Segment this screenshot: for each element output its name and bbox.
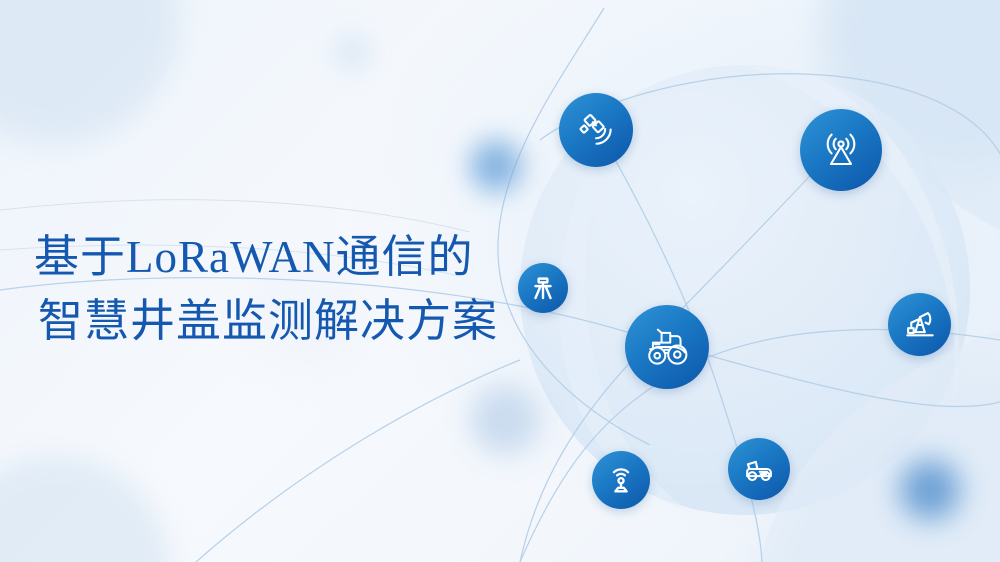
title-line-2: 智慧井盖监测解决方案	[34, 290, 574, 354]
orbit-line	[196, 360, 520, 562]
mower-vehicle-icon	[740, 450, 778, 488]
node-tractor[interactable]	[625, 305, 709, 389]
tractor-icon	[641, 321, 693, 373]
oil-pumpjack-icon	[901, 306, 939, 344]
node-antenna-tower[interactable]	[800, 109, 882, 191]
node-satellite[interactable]	[559, 93, 633, 167]
slide-canvas: 基于LoRaWAN通信的 智慧井盖监测解决方案	[0, 0, 1000, 562]
node-survey-tripod[interactable]	[518, 263, 568, 313]
page-title: 基于LoRaWAN通信的 智慧井盖监测解决方案	[34, 226, 574, 354]
antenna-tower-icon	[817, 126, 865, 174]
title-line-1: 基于LoRaWAN通信的	[34, 226, 574, 290]
satellite-icon	[574, 108, 618, 152]
node-mower-vehicle[interactable]	[728, 438, 790, 500]
node-oil-pumpjack[interactable]	[888, 293, 951, 356]
node-sensor-beacon[interactable]	[592, 451, 650, 509]
sensor-beacon-icon	[604, 463, 638, 497]
survey-tripod-icon	[528, 273, 558, 303]
